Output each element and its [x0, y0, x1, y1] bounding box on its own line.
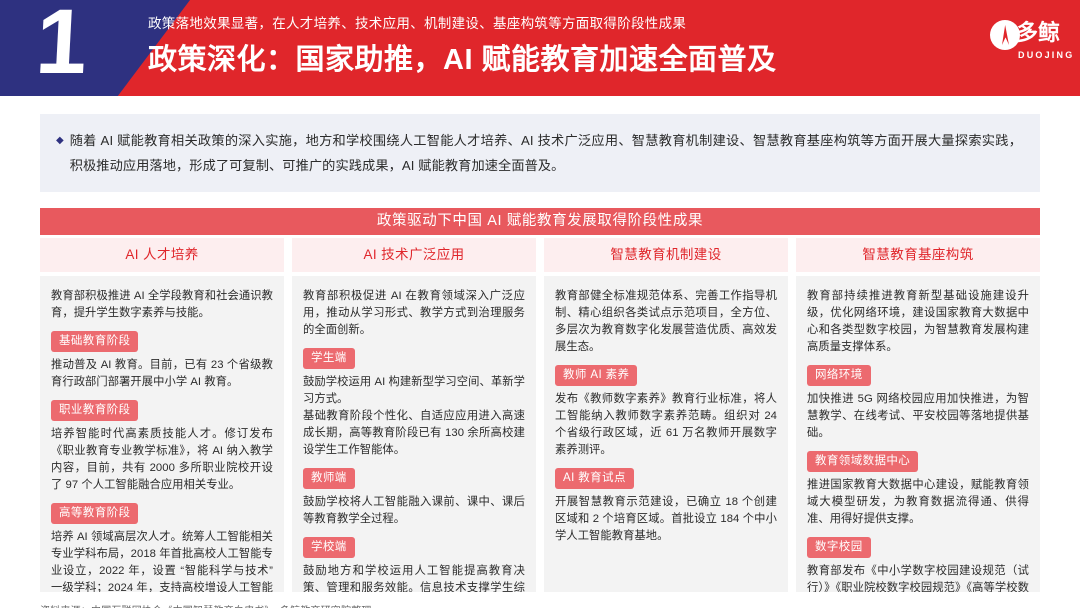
body-paragraph: 鼓励学校将人工智能融入课前、课中、课后等教育教学全过程。 [303, 494, 525, 528]
intro-box: ◆ 随着 AI 赋能教育相关政策的深入实施，地方和学校围绕人工智能人才培养、AI… [40, 114, 1040, 192]
body-paragraph: 推进国家教育大数据中心建设，赋能教育领域大模型研发，为教育数据流得通、供得准、用… [807, 477, 1029, 528]
column-header-2: 智慧教育机制建设 [544, 238, 788, 272]
section-tag: 学校端 [303, 537, 355, 558]
table-column-headers: AI 人才培养 AI 技术广泛应用 智慧教育机制建设 智慧教育基座构筑 [40, 238, 1040, 272]
body-paragraph: 基础教育阶段个性化、自适应应用进入高速成长期，高等教育阶段已有 130 余所高校… [303, 408, 525, 459]
intro-paragraph: 随着 AI 赋能教育相关政策的深入实施，地方和学校围绕人工智能人才培养、AI 技… [70, 128, 1022, 178]
body-paragraph: 开展智慧教育示范建设，已确立 18 个创建区域和 2 个培育区域。首批设立 18… [555, 494, 777, 545]
table-column-bodies: 教育部积极推进 AI 全学段教育和社会通识教育，提升学生数字素养与技能。基础教育… [40, 276, 1040, 592]
section-tag: 网络环境 [807, 365, 871, 386]
slide-page: 1 政策落地效果显著，在人才培养、技术应用、机制建设、基座构筑等方面取得阶段性成… [0, 0, 1080, 608]
diamond-bullet-icon: ◆ [56, 128, 64, 153]
section-tag: AI 教育试点 [555, 468, 634, 489]
column-body-3: 教育部持续推进教育新型基础设施建设升级，优化网络环境，建设国家教育大数据中心和各… [796, 276, 1040, 592]
section-tag: 教育领域数据中心 [807, 451, 918, 472]
duojing-logo: 多鲸 DUOJING [990, 18, 1066, 74]
section-tag: 教师 AI 素养 [555, 365, 637, 386]
body-paragraph: 培养 AI 领域高层次人才。统筹人工智能相关专业学科布局，2018 年首批高校人… [51, 529, 273, 592]
column-body-0: 教育部积极推进 AI 全学段教育和社会通识教育，提升学生数字素养与技能。基础教育… [40, 276, 284, 592]
header-text-group: 政策落地效果显著，在人才培养、技术应用、机制建设、基座构筑等方面取得阶段性成果 … [148, 14, 948, 80]
body-paragraph: 教育部积极促进 AI 在教育领域深入广泛应用，推动从学习形式、教学方式到治理服务… [303, 288, 525, 339]
column-body-2: 教育部健全标准规范体系、完善工作指导机制、精心组织各类试点示范项目，全方位、多层… [544, 276, 788, 592]
section-tag: 教师端 [303, 468, 355, 489]
section-tag: 高等教育阶段 [51, 503, 138, 524]
body-paragraph: 培养智能时代高素质技能人才。修订发布《职业教育专业教学标准》，将 AI 纳入教学… [51, 426, 273, 494]
slide-header: 1 政策落地效果显著，在人才培养、技术应用、机制建设、基座构筑等方面取得阶段性成… [0, 0, 1080, 96]
body-paragraph: 加快推进 5G 网络校园应用加快推进，为智慧教学、在线考试、平安校园等落地提供基… [807, 391, 1029, 442]
page-title: 政策深化：国家助推，AI 赋能教育加速全面普及 [148, 40, 948, 80]
column-header-3: 智慧教育基座构筑 [796, 238, 1040, 272]
logo-chinese-name: 多鲸 [1016, 18, 1060, 48]
column-body-1: 教育部积极促进 AI 在教育领域深入广泛应用，推动从学习形式、教学方式到治理服务… [292, 276, 536, 592]
body-paragraph: 教育部发布《中小学数字校园建设规范（试行）》《职业院校数字校园规范》《高等学校数… [807, 563, 1029, 592]
section-tag: 职业教育阶段 [51, 400, 138, 421]
results-table: 政策驱动下中国 AI 赋能教育发展取得阶段性成果 AI 人才培养 AI 技术广泛… [40, 208, 1040, 592]
column-header-0: AI 人才培养 [40, 238, 284, 272]
logo-latin-name: DUOJING [1018, 49, 1074, 61]
section-tag: 数字校园 [807, 537, 871, 558]
body-paragraph: 教育部持续推进教育新型基础设施建设升级，优化网络环境，建设国家教育大数据中心和各… [807, 288, 1029, 356]
source-note: 资料来源：中国互联网协会《中国智慧教育白皮书》，多鲸教育研究院整理 [40, 604, 1040, 608]
section-tag: 学生端 [303, 348, 355, 369]
column-header-1: AI 技术广泛应用 [292, 238, 536, 272]
slide-number: 1 [33, 0, 87, 90]
body-paragraph: 鼓励学校运用 AI 构建新型学习空间、革新学习方式。 [303, 374, 525, 408]
body-paragraph: 推动普及 AI 教育。目前，已有 23 个省级教育行政部门部署开展中小学 AI … [51, 357, 273, 391]
header-subtitle: 政策落地效果显著，在人才培养、技术应用、机制建设、基座构筑等方面取得阶段性成果 [148, 14, 948, 34]
slide-content: ◆ 随着 AI 赋能教育相关政策的深入实施，地方和学校围绕人工智能人才培养、AI… [0, 96, 1080, 608]
body-paragraph: 鼓励地方和学校运用人工智能提高教育决策、管理和服务效能。信息技术支撑学生综合素质… [303, 563, 525, 592]
body-paragraph: 发布《教师数字素养》教育行业标准，将人工智能纳入教师数字素养范畴。组织对 24 … [555, 391, 777, 459]
body-paragraph: 教育部积极推进 AI 全学段教育和社会通识教育，提升学生数字素养与技能。 [51, 288, 273, 322]
table-title: 政策驱动下中国 AI 赋能教育发展取得阶段性成果 [40, 208, 1040, 235]
body-paragraph: 教育部健全标准规范体系、完善工作指导机制、精心组织各类试点示范项目，全方位、多层… [555, 288, 777, 356]
section-tag: 基础教育阶段 [51, 331, 138, 352]
